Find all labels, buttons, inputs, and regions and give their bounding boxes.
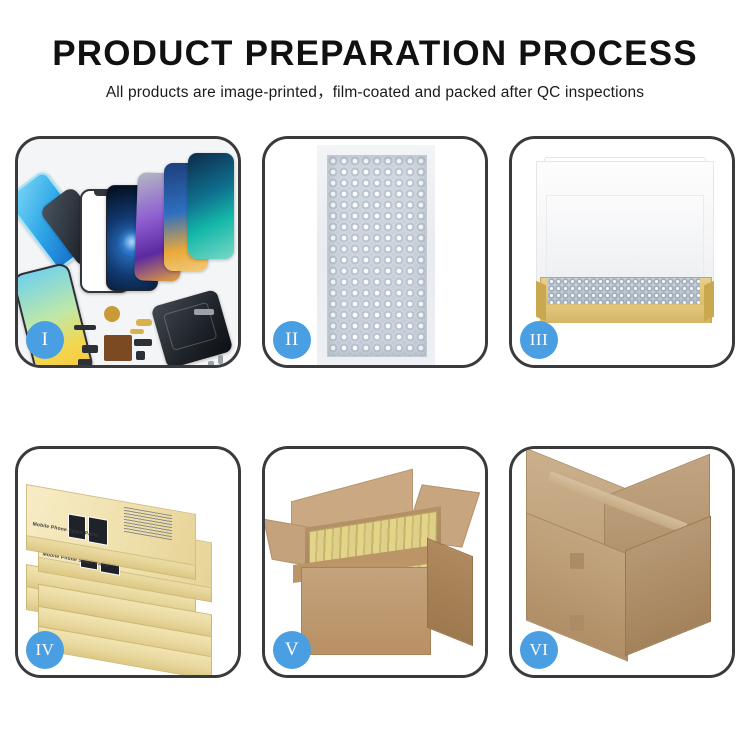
bubble-wrap (327, 155, 427, 357)
step-panel-1[interactable]: I (15, 136, 241, 368)
part-screw-1 (208, 361, 214, 365)
mailer-tray-right-edge (704, 281, 714, 321)
carton-seam-upper (570, 553, 584, 569)
part-connector-5 (134, 339, 152, 346)
step-panel-5[interactable]: V (262, 446, 488, 678)
part-logic-board (104, 335, 132, 361)
process-grid: I II III (0, 136, 750, 678)
step-panel-4[interactable]: Mobile Phone Spare Parts Mobile Phone Sp… (15, 446, 241, 678)
step-badge-1: I (26, 321, 64, 359)
tray-bubble-wrap (548, 278, 700, 304)
part-flex-cable-2 (130, 329, 144, 334)
foam-insert (546, 195, 704, 279)
step-badge-4: IV (26, 631, 64, 669)
part-connector-6 (136, 351, 145, 360)
page-title: PRODUCT PREPARATION PROCESS (0, 34, 750, 74)
step-badge-5: V (273, 631, 311, 669)
part-speaker-round (104, 306, 120, 322)
part-connector-1 (82, 345, 98, 353)
carton-front-face (301, 567, 431, 655)
part-tool-tweezer (194, 309, 214, 315)
part-flex-cable-1 (136, 319, 152, 326)
mailer-tray-left-edge (536, 281, 546, 321)
step-panel-2[interactable]: II (262, 136, 488, 368)
step-panel-3[interactable]: III (509, 136, 735, 368)
step-badge-3: III (520, 321, 558, 359)
carton-side-face (427, 538, 473, 647)
carton-seam-lower (570, 615, 584, 631)
part-connector-2 (78, 359, 92, 365)
page-subtitle: All products are image-printed，film-coat… (0, 82, 750, 104)
part-earpiece-bar (74, 325, 96, 330)
mailer-tray-front (540, 305, 710, 323)
step-badge-2: II (273, 321, 311, 359)
process-row-2: Mobile Phone Spare Parts Mobile Phone Sp… (15, 446, 735, 678)
step-panel-6[interactable]: VI (509, 446, 735, 678)
process-row-1: I II III (15, 136, 735, 368)
phone-display-teal (188, 153, 234, 259)
page-header: PRODUCT PREPARATION PROCESS All products… (0, 0, 750, 104)
step-badge-6: VI (520, 631, 558, 669)
part-screw-2 (218, 355, 223, 364)
